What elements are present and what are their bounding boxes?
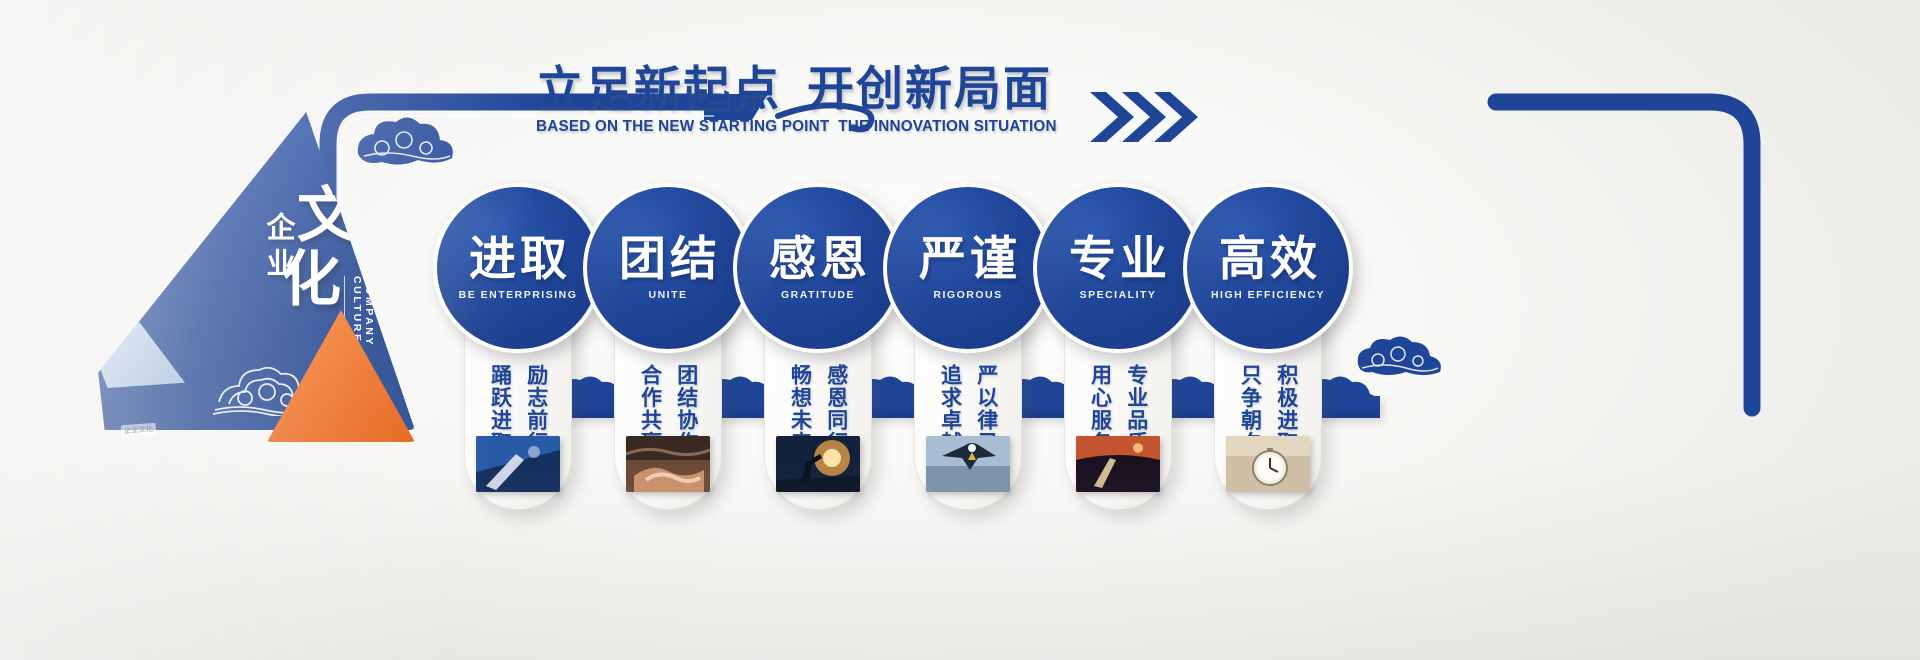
- value-en-1: UNITE: [649, 289, 688, 301]
- photo-unite[interactable]: [626, 436, 710, 492]
- value-circle-0[interactable]: 进取 BE ENTERPRISING: [433, 183, 603, 353]
- value-pill-3[interactable]: 严谨 RIGOROUS 追求卓越 严以律己: [914, 188, 1022, 510]
- value-cn-5: 高效: [1215, 235, 1321, 282]
- value-pill-2[interactable]: 感恩 GRATITUDE 畅想未来 感恩同行: [764, 188, 872, 510]
- value-en-3: RIGOROUS: [933, 289, 1002, 301]
- value-en-4: SPECIALITY: [1080, 289, 1157, 301]
- photo-rigorous[interactable]: [926, 436, 1010, 492]
- value-pill-0[interactable]: 进取 BE ENTERPRISING 踊跃进取 励志前行: [464, 188, 572, 510]
- right-cloud-icon: [1352, 330, 1448, 382]
- value-circle-1[interactable]: 团结 UNITE: [583, 183, 753, 353]
- value-en-2: GRATITUDE: [781, 289, 855, 301]
- value-pill-4[interactable]: 专业 SPECIALITY 用心服务 专业品质: [1064, 188, 1172, 510]
- value-cn-0: 进取: [465, 235, 571, 282]
- value-cn-2: 感恩: [765, 235, 871, 282]
- value-pill-1[interactable]: 团结 UNITE 合作共赢 团结协作: [614, 188, 722, 510]
- photo-efficiency[interactable]: [1226, 436, 1310, 492]
- value-circle-2[interactable]: 感恩 GRATITUDE: [733, 183, 903, 353]
- company-culture-wall: 企业 文 化 COMPANY CULTURE: [0, 0, 1920, 660]
- value-circle-3[interactable]: 严谨 RIGOROUS: [883, 183, 1053, 353]
- value-en-5: HIGH EFFICIENCY: [1211, 289, 1325, 301]
- value-cn-4: 专业: [1065, 235, 1171, 282]
- photo-gratitude[interactable]: [776, 436, 860, 492]
- photo-enterprising[interactable]: [476, 436, 560, 492]
- photo-speciality[interactable]: [1076, 436, 1160, 492]
- value-cn-1: 团结: [615, 235, 721, 282]
- value-circle-4[interactable]: 专业 SPECIALITY: [1033, 183, 1203, 353]
- value-pill-row: 进取 BE ENTERPRISING 踊跃进取 励志前行 团结: [0, 0, 1920, 660]
- value-cn-3: 严谨: [915, 235, 1021, 282]
- value-pill-5[interactable]: 高效 HIGH EFFICIENCY 只争朝夕 积极进取: [1214, 188, 1322, 510]
- value-en-0: BE ENTERPRISING: [459, 289, 578, 301]
- value-circle-5[interactable]: 高效 HIGH EFFICIENCY: [1183, 183, 1353, 353]
